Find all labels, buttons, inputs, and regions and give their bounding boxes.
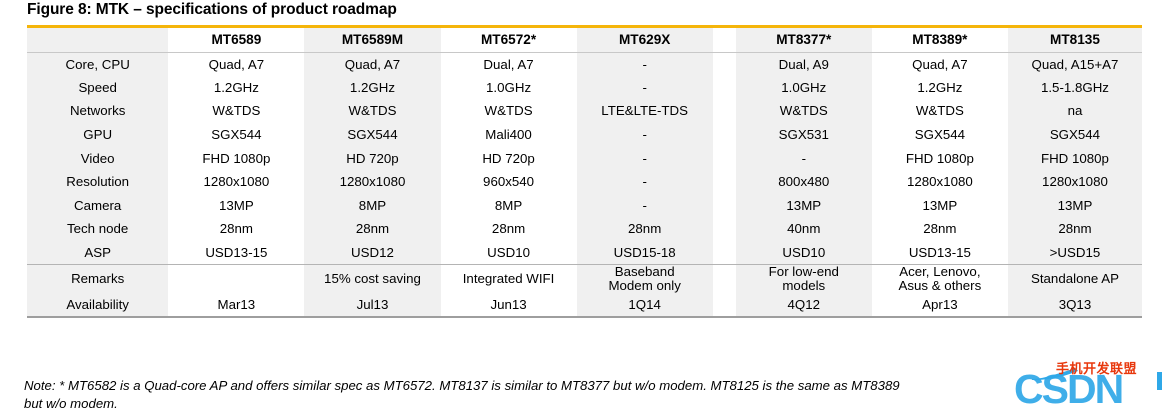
figure-title: Figure 8: MTK – specifications of produc…	[27, 1, 397, 19]
column-header-mt8135: MT8135	[1008, 27, 1142, 53]
cell: Mali400	[441, 123, 577, 147]
row-label-core-cpu: Core, CPU	[27, 53, 168, 77]
cell: -	[577, 194, 713, 218]
column-header-mt8377: MT8377*	[736, 27, 872, 53]
cell-remarks: BasebandModem only	[577, 265, 713, 294]
header-row: MT6589 MT6589M MT6572* MT629X MT8377* MT…	[27, 27, 1142, 53]
group-spacer-cell	[713, 293, 736, 317]
note-line-1: Note: * MT6582 is a Quad-core AP and off…	[24, 378, 900, 393]
cell: 13MP	[872, 194, 1008, 218]
cell: 800x480	[736, 170, 872, 194]
row-label-video: Video	[27, 147, 168, 171]
cell-availability: Mar13	[168, 293, 304, 317]
table-head: MT6589 MT6589M MT6572* MT629X MT8377* MT…	[27, 27, 1142, 53]
cell: USD12	[304, 241, 440, 265]
cell: 1280x1080	[168, 170, 304, 194]
cell-availability: Jun13	[441, 293, 577, 317]
column-group-spacer	[713, 27, 736, 53]
row-label-camera: Camera	[27, 194, 168, 218]
group-spacer-cell	[713, 123, 736, 147]
group-spacer-cell	[713, 170, 736, 194]
table-row: Speed 1.2GHz 1.2GHz 1.0GHz - 1.0GHz 1.2G…	[27, 76, 1142, 100]
table-row: Core, CPU Quad, A7 Quad, A7 Dual, A7 - D…	[27, 53, 1142, 77]
cell: USD10	[441, 241, 577, 265]
cell: 1.2GHz	[168, 76, 304, 100]
cell: 28nm	[168, 218, 304, 242]
cell: 1.2GHz	[304, 76, 440, 100]
cell: 1280x1080	[1008, 170, 1142, 194]
figure-container: Figure 8: MTK – specifications of produc…	[0, 0, 1168, 416]
cell-availability: Apr13	[872, 293, 1008, 317]
cell: 28nm	[1008, 218, 1142, 242]
cell: Quad, A15+A7	[1008, 53, 1142, 77]
cell: USD13-15	[872, 241, 1008, 265]
column-header-mt6572: MT6572*	[441, 27, 577, 53]
cell: W&TDS	[441, 100, 577, 124]
cell: Dual, A7	[441, 53, 577, 77]
group-spacer-cell	[713, 265, 736, 294]
cell: SGX544	[872, 123, 1008, 147]
cell: USD10	[736, 241, 872, 265]
cell: SGX544	[168, 123, 304, 147]
table-row: Video FHD 1080p HD 720p HD 720p - - FHD …	[27, 147, 1142, 171]
cell: FHD 1080p	[872, 147, 1008, 171]
note-line-2: but w/o modem.	[24, 395, 1154, 413]
cell-remarks: 15% cost saving	[304, 265, 440, 294]
cell: SGX544	[304, 123, 440, 147]
row-label-asp: ASP	[27, 241, 168, 265]
cell: Dual, A9	[736, 53, 872, 77]
table-body: Core, CPU Quad, A7 Quad, A7 Dual, A7 - D…	[27, 53, 1142, 317]
cell: Quad, A7	[304, 53, 440, 77]
cell: 8MP	[441, 194, 577, 218]
cell-remarks: Acer, Lenovo,Asus & others	[872, 265, 1008, 294]
cell: -	[577, 170, 713, 194]
cell: W&TDS	[168, 100, 304, 124]
cell: na	[1008, 100, 1142, 124]
watermark-chinese-text: 手机开发联盟	[1056, 358, 1137, 377]
table-row: Resolution 1280x1080 1280x1080 960x540 -…	[27, 170, 1142, 194]
cell-remarks: Standalone AP	[1008, 265, 1142, 294]
cell: SGX544	[1008, 123, 1142, 147]
watermark-bar	[1157, 372, 1162, 390]
cell: 1280x1080	[872, 170, 1008, 194]
group-spacer-cell	[713, 218, 736, 242]
table-row: GPU SGX544 SGX544 Mali400 - SGX531 SGX54…	[27, 123, 1142, 147]
cell: -	[736, 147, 872, 171]
group-spacer-cell	[713, 147, 736, 171]
row-label-tech-node: Tech node	[27, 218, 168, 242]
column-header-mt8389: MT8389*	[872, 27, 1008, 53]
cell: HD 720p	[441, 147, 577, 171]
cell: Quad, A7	[168, 53, 304, 77]
cell: -	[577, 76, 713, 100]
cell: FHD 1080p	[168, 147, 304, 171]
group-spacer-cell	[713, 76, 736, 100]
cell-availability: 4Q12	[736, 293, 872, 317]
cell: 8MP	[304, 194, 440, 218]
table-row: Tech node 28nm 28nm 28nm 28nm 40nm 28nm …	[27, 218, 1142, 242]
cell: 960x540	[441, 170, 577, 194]
cell: 1.0GHz	[736, 76, 872, 100]
cell: 28nm	[441, 218, 577, 242]
cell-availability: 1Q14	[577, 293, 713, 317]
cell-remarks	[168, 265, 304, 294]
cell: 28nm	[872, 218, 1008, 242]
table-row-availability: Availability Mar13 Jul13 Jun13 1Q14 4Q12…	[27, 293, 1142, 317]
group-spacer-cell	[713, 241, 736, 265]
row-label-remarks: Remarks	[27, 265, 168, 294]
spec-table-wrapper: MT6589 MT6589M MT6572* MT629X MT8377* MT…	[27, 25, 1142, 318]
cell: 1.5-1.8GHz	[1008, 76, 1142, 100]
column-header-mt629x: MT629X	[577, 27, 713, 53]
row-label-speed: Speed	[27, 76, 168, 100]
cell-remarks: For low-endmodels	[736, 265, 872, 294]
cell: 1.0GHz	[441, 76, 577, 100]
cell: 1280x1080	[304, 170, 440, 194]
table-row-remarks: Remarks 15% cost saving Integrated WIFI …	[27, 265, 1142, 294]
cell: 28nm	[577, 218, 713, 242]
group-spacer-cell	[713, 194, 736, 218]
table-row: ASP USD13-15 USD12 USD10 USD15-18 USD10 …	[27, 241, 1142, 265]
cell: HD 720p	[304, 147, 440, 171]
spec-table: MT6589 MT6589M MT6572* MT629X MT8377* MT…	[27, 25, 1142, 318]
cell: 40nm	[736, 218, 872, 242]
cell: 28nm	[304, 218, 440, 242]
cell: >USD15	[1008, 241, 1142, 265]
cell: -	[577, 147, 713, 171]
cell: USD13-15	[168, 241, 304, 265]
cell: 13MP	[1008, 194, 1142, 218]
cell-availability: Jul13	[304, 293, 440, 317]
table-row: Camera 13MP 8MP 8MP - 13MP 13MP 13MP	[27, 194, 1142, 218]
cell: W&TDS	[872, 100, 1008, 124]
cell: -	[577, 123, 713, 147]
cell: 13MP	[736, 194, 872, 218]
row-label-availability: Availability	[27, 293, 168, 317]
row-label-resolution: Resolution	[27, 170, 168, 194]
cell: 13MP	[168, 194, 304, 218]
figure-note: Note: * MT6582 is a Quad-core AP and off…	[24, 377, 1154, 412]
column-header-mt6589: MT6589	[168, 27, 304, 53]
cell-remarks: Integrated WIFI	[441, 265, 577, 294]
cell: W&TDS	[304, 100, 440, 124]
header-corner	[27, 27, 168, 53]
cell-availability: 3Q13	[1008, 293, 1142, 317]
row-label-networks: Networks	[27, 100, 168, 124]
row-label-gpu: GPU	[27, 123, 168, 147]
cell: USD15-18	[577, 241, 713, 265]
cell: SGX531	[736, 123, 872, 147]
cell: 1.2GHz	[872, 76, 1008, 100]
cell: Quad, A7	[872, 53, 1008, 77]
group-spacer-cell	[713, 100, 736, 124]
group-spacer-cell	[713, 53, 736, 77]
table-row: Networks W&TDS W&TDS W&TDS LTE&LTE-TDS W…	[27, 100, 1142, 124]
cell: LTE&LTE-TDS	[577, 100, 713, 124]
cell: W&TDS	[736, 100, 872, 124]
cell: -	[577, 53, 713, 77]
column-header-mt6589m: MT6589M	[304, 27, 440, 53]
cell: FHD 1080p	[1008, 147, 1142, 171]
